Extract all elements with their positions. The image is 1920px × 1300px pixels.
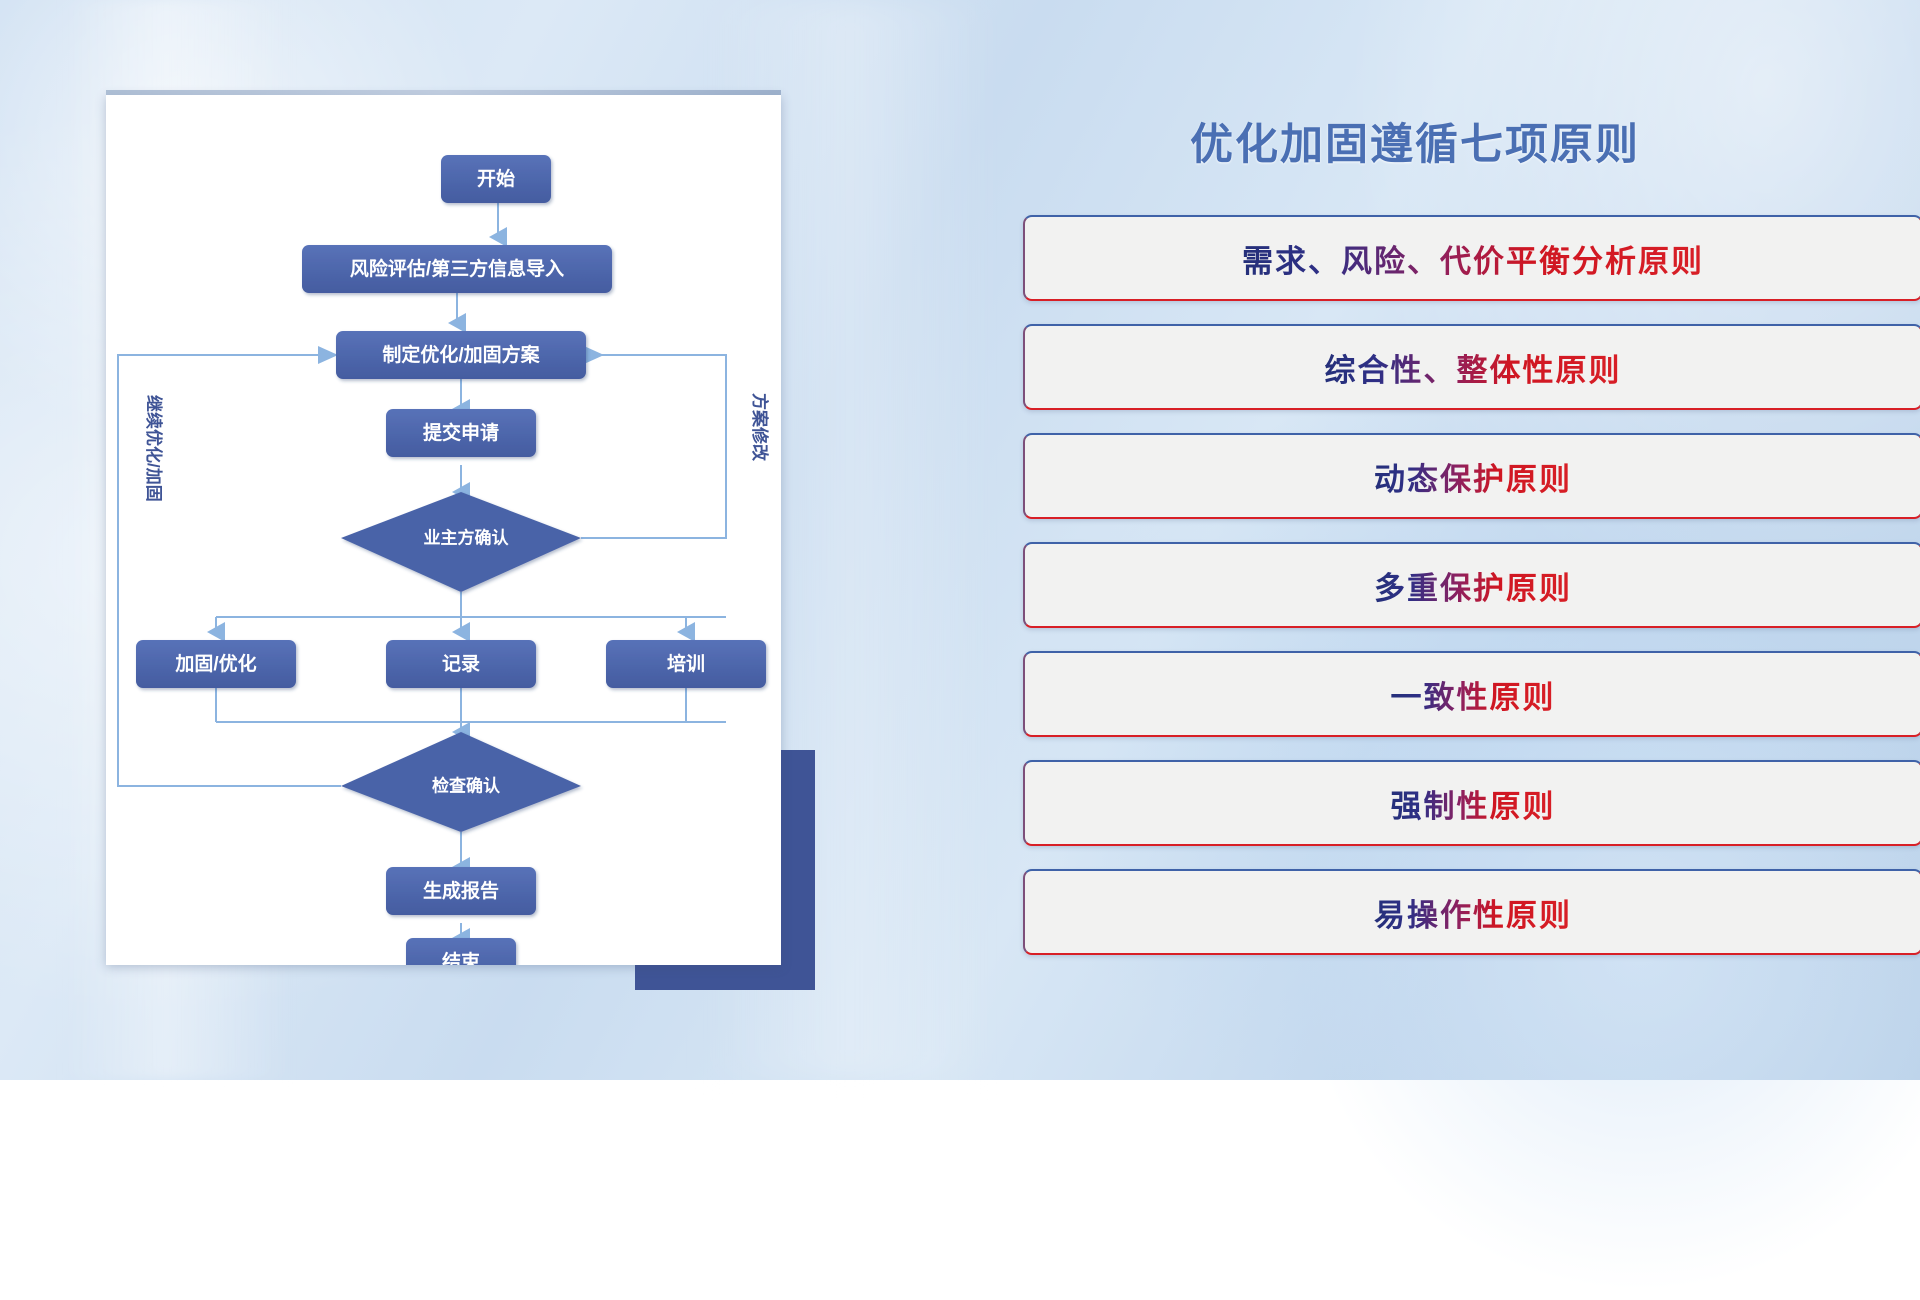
principle-label: 强制性原则 <box>1391 781 1556 826</box>
principle-card-3[interactable]: 动态保护原则 <box>1023 433 1920 519</box>
flow-node-start-label: 开始 <box>477 167 515 190</box>
flow-node-training-label: 培训 <box>667 652 705 675</box>
flowchart-diagram: 开始 风险评估/第三方信息导入 制定优化/加固方案 提交申请 业主方确认 加固/… <box>106 95 781 965</box>
principle-label: 易操作性原则 <box>1374 890 1572 935</box>
flowchart-right-loop-label: 方案修改 <box>750 393 770 462</box>
flow-node-owner-confirm-label: 业主方确认 <box>424 527 510 547</box>
principle-card-4[interactable]: 多重保护原则 <box>1023 542 1920 628</box>
principle-label: 综合性、整体性原则 <box>1325 345 1622 390</box>
flow-node-reinforce-optimize-label: 加固/优化 <box>174 652 256 675</box>
principle-card-1[interactable]: 需求、风险、代价平衡分析原则 <box>1023 215 1920 301</box>
principles-list: 需求、风险、代价平衡分析原则 综合性、整体性原则 动态保护原则 多重保护原则 一… <box>1023 215 1920 978</box>
flow-node-record-label: 记录 <box>442 653 480 675</box>
connector-owner-to-plan-loop <box>581 355 726 538</box>
flowchart-panel: 开始 风险评估/第三方信息导入 制定优化/加固方案 提交申请 业主方确认 加固/… <box>106 95 781 965</box>
flow-node-make-plan-label: 制定优化/加固方案 <box>382 343 540 366</box>
principle-label: 需求、风险、代价平衡分析原则 <box>1242 236 1704 281</box>
page-title: 优化加固遵循七项原则 <box>1020 110 1810 172</box>
principle-card-6[interactable]: 强制性原则 <box>1023 760 1920 846</box>
principle-label: 多重保护原则 <box>1374 563 1572 608</box>
principle-card-5[interactable]: 一致性原则 <box>1023 651 1920 737</box>
flow-node-check-confirm-label: 检查确认 <box>432 775 501 795</box>
principle-label: 一致性原则 <box>1391 672 1556 717</box>
flowchart-left-loop-label: 继续优化/加固 <box>144 395 164 502</box>
principle-card-7[interactable]: 易操作性原则 <box>1023 869 1920 955</box>
principle-card-2[interactable]: 综合性、整体性原则 <box>1023 324 1920 410</box>
principle-label: 动态保护原则 <box>1374 454 1572 499</box>
flow-node-submit-application-label: 提交申请 <box>423 421 499 444</box>
flow-node-generate-report-label: 生成报告 <box>423 879 499 902</box>
principles-panel: 优化加固遵循七项原则 需求、风险、代价平衡分析原则 综合性、整体性原则 动态保护… <box>1020 90 1920 1020</box>
flow-node-end-label: 结束 <box>442 950 481 965</box>
flow-node-risk-assessment-label: 风险评估/第三方信息导入 <box>350 257 564 280</box>
